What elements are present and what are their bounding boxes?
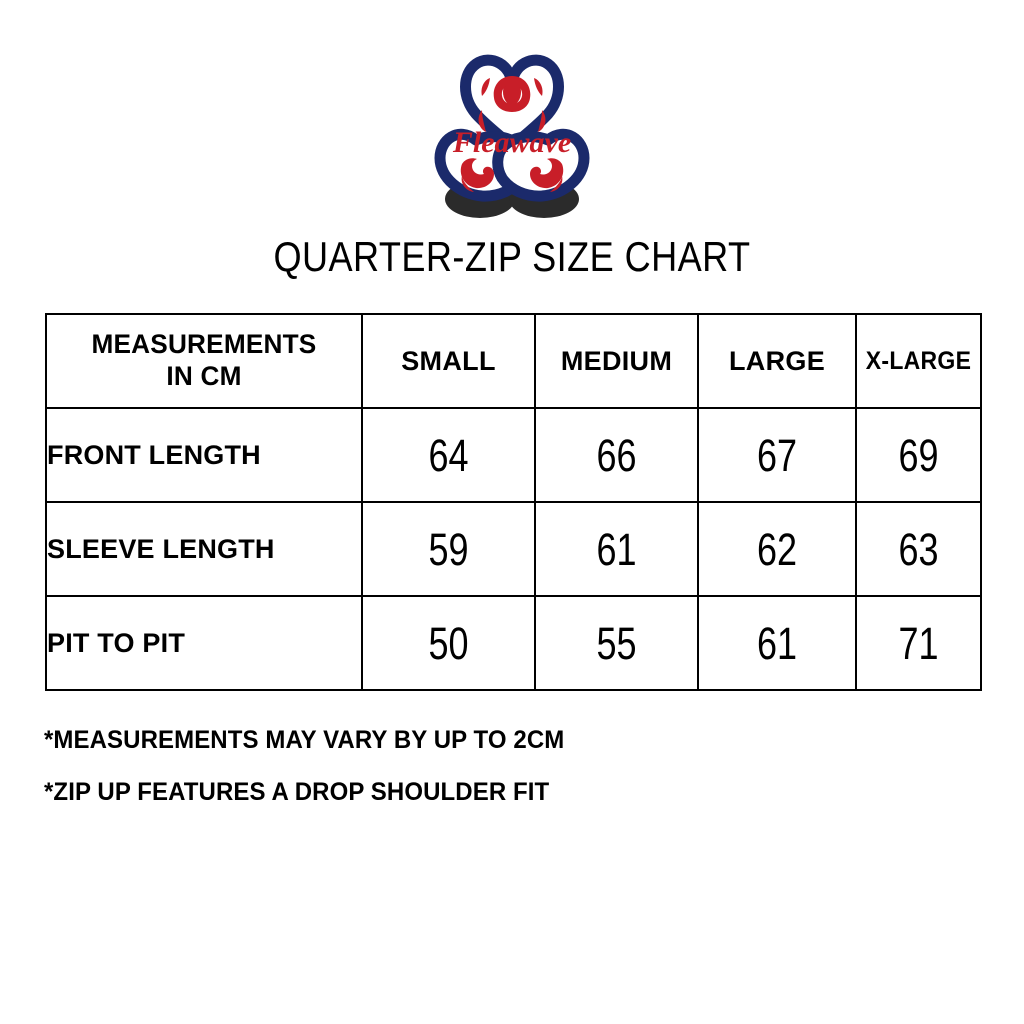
logo-wordmark: Fleawave (452, 126, 571, 159)
brand-logo: Fleawave (0, 48, 1024, 228)
cell-sleeve-length-medium: 61 (551, 502, 681, 596)
header-measurements-line1: MEASUREMENTS (92, 329, 317, 359)
page-title: QUARTER-ZIP SIZE CHART (72, 236, 953, 278)
cell-pit-to-pit-medium: 55 (551, 596, 681, 690)
header-small: SMALL (362, 314, 535, 408)
cell-front-length-medium: 66 (551, 408, 681, 502)
header-large: LARGE (698, 314, 856, 408)
cell-front-length-large: 67 (714, 408, 840, 502)
value-text: 55 (596, 621, 636, 666)
cell-sleeve-length-xlarge: 63 (869, 502, 969, 596)
table-header-row: MEASUREMENTS IN CM SMALL MEDIUM LARGE X-… (46, 314, 981, 408)
value-text: 50 (428, 621, 468, 666)
row-label-pit-to-pit: PIT TO PIT (46, 596, 362, 690)
cell-front-length-small: 64 (379, 408, 517, 502)
cell-pit-to-pit-xlarge: 71 (869, 596, 969, 690)
row-label-sleeve-length: SLEEVE LENGTH (46, 502, 362, 596)
header-xlarge-label: X-LARGE (862, 347, 975, 376)
value-text: 64 (428, 433, 468, 478)
cell-front-length-xlarge: 69 (869, 408, 969, 502)
value-text: 61 (596, 527, 636, 572)
cell-pit-to-pit-small: 50 (379, 596, 517, 690)
value-text: 62 (757, 527, 797, 572)
header-medium: MEDIUM (535, 314, 698, 408)
table-row: SLEEVE LENGTH 59 61 62 63 (46, 502, 981, 596)
value-text: 69 (898, 433, 938, 478)
footnotes: *MEASUREMENTS MAY VARY BY UP TO 2CM *ZIP… (44, 728, 944, 832)
size-chart-table: MEASUREMENTS IN CM SMALL MEDIUM LARGE X-… (45, 313, 982, 691)
footnote-drop-shoulder-fit: *ZIP UP FEATURES A DROP SHOULDER FIT (44, 780, 908, 805)
cell-sleeve-length-small: 59 (379, 502, 517, 596)
footnote-measurement-variance: *MEASUREMENTS MAY VARY BY UP TO 2CM (44, 728, 908, 753)
cell-sleeve-length-large: 62 (714, 502, 840, 596)
header-xlarge: X-LARGE (856, 314, 981, 408)
value-text: 59 (428, 527, 468, 572)
value-text: 67 (757, 433, 797, 478)
row-label-front-length: FRONT LENGTH (46, 408, 362, 502)
table-row: FRONT LENGTH 64 66 67 69 (46, 408, 981, 502)
value-text: 66 (596, 433, 636, 478)
header-measurements: MEASUREMENTS IN CM (51, 314, 358, 408)
value-text: 63 (898, 527, 938, 572)
clover-heart-logo-icon: Fleawave (432, 48, 592, 220)
header-measurements-line2: IN CM (166, 361, 241, 391)
table-row: PIT TO PIT 50 55 61 71 (46, 596, 981, 690)
value-text: 61 (757, 621, 797, 666)
cell-pit-to-pit-large: 61 (714, 596, 840, 690)
value-text: 71 (898, 621, 938, 666)
